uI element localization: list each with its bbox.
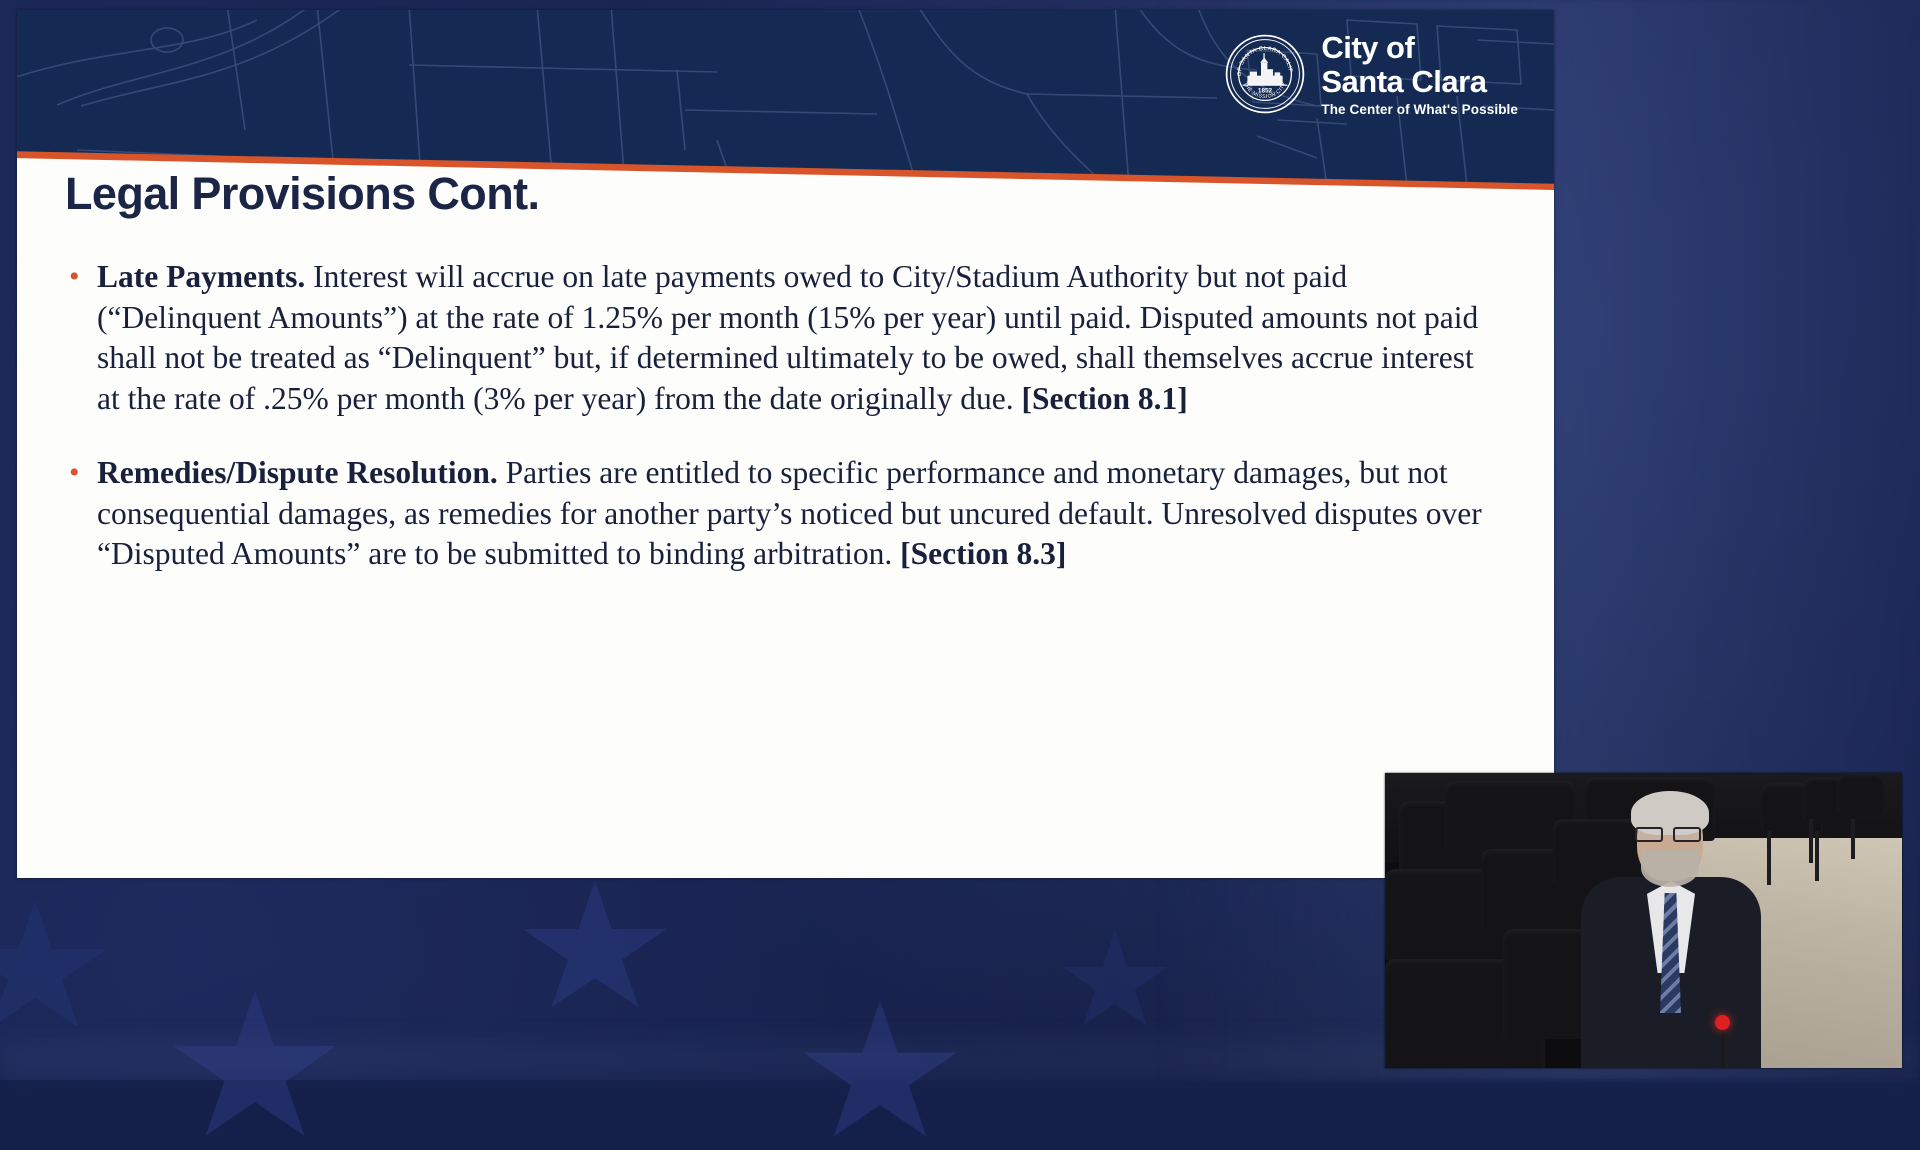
chair-leg bbox=[1851, 819, 1855, 859]
wordmark-tagline: The Center of What's Possible bbox=[1321, 103, 1518, 117]
bullet-citation: [Section 8.1] bbox=[1022, 381, 1188, 416]
speaker-glasses-icon bbox=[1635, 827, 1705, 842]
bullet-item: • Late Payments. Interest will accrue on… bbox=[63, 257, 1482, 419]
microphone-led-icon bbox=[1715, 1015, 1730, 1030]
slide-title: Legal Provisions Cont. bbox=[65, 168, 539, 220]
bullet-citation: [Section 8.3] bbox=[900, 536, 1066, 571]
bullet-item: • Remedies/Dispute Resolution. Parties a… bbox=[63, 453, 1482, 575]
speaker-video-overlay[interactable] bbox=[1385, 773, 1902, 1068]
video-scene bbox=[1385, 773, 1902, 1068]
bullet-lead: Remedies/Dispute Resolution. bbox=[97, 455, 498, 490]
city-seal-icon: CITY OF SANTA CLARA CALIFORNIA THE MISSI… bbox=[1225, 34, 1305, 114]
flag-star bbox=[800, 1000, 960, 1150]
bullet-marker-icon: • bbox=[63, 453, 97, 493]
chair-leg bbox=[1767, 831, 1771, 885]
bullet-lead: Late Payments. bbox=[97, 259, 305, 294]
city-logo-lockup: CITY OF SANTA CLARA CALIFORNIA THE MISSI… bbox=[1225, 32, 1518, 117]
chair-leg bbox=[1809, 819, 1813, 863]
wordmark-line-1: City of bbox=[1321, 32, 1518, 63]
bullet-paragraph: Remedies/Dispute Resolution. Parties are… bbox=[97, 453, 1482, 575]
wordmark-line-2: Santa Clara bbox=[1321, 66, 1518, 97]
svg-text:1852: 1852 bbox=[1258, 88, 1273, 95]
chair-leg bbox=[1815, 831, 1819, 881]
presentation-slide: CITY OF SANTA CLARA CALIFORNIA THE MISSI… bbox=[17, 10, 1554, 878]
city-wordmark: City of Santa Clara The Center of What's… bbox=[1321, 32, 1518, 117]
bullet-text: Interest will accrue on late payments ow… bbox=[97, 259, 1478, 416]
speaker-beard bbox=[1641, 849, 1699, 887]
flag-star bbox=[520, 880, 670, 1020]
chair bbox=[1837, 773, 1885, 813]
flag-star bbox=[0, 900, 110, 1040]
bullet-marker-icon: • bbox=[63, 257, 97, 297]
slide-body: • Late Payments. Interest will accrue on… bbox=[63, 257, 1482, 609]
bullet-paragraph: Late Payments. Interest will accrue on l… bbox=[97, 257, 1482, 419]
slide-header-band: CITY OF SANTA CLARA CALIFORNIA THE MISSI… bbox=[17, 10, 1554, 186]
